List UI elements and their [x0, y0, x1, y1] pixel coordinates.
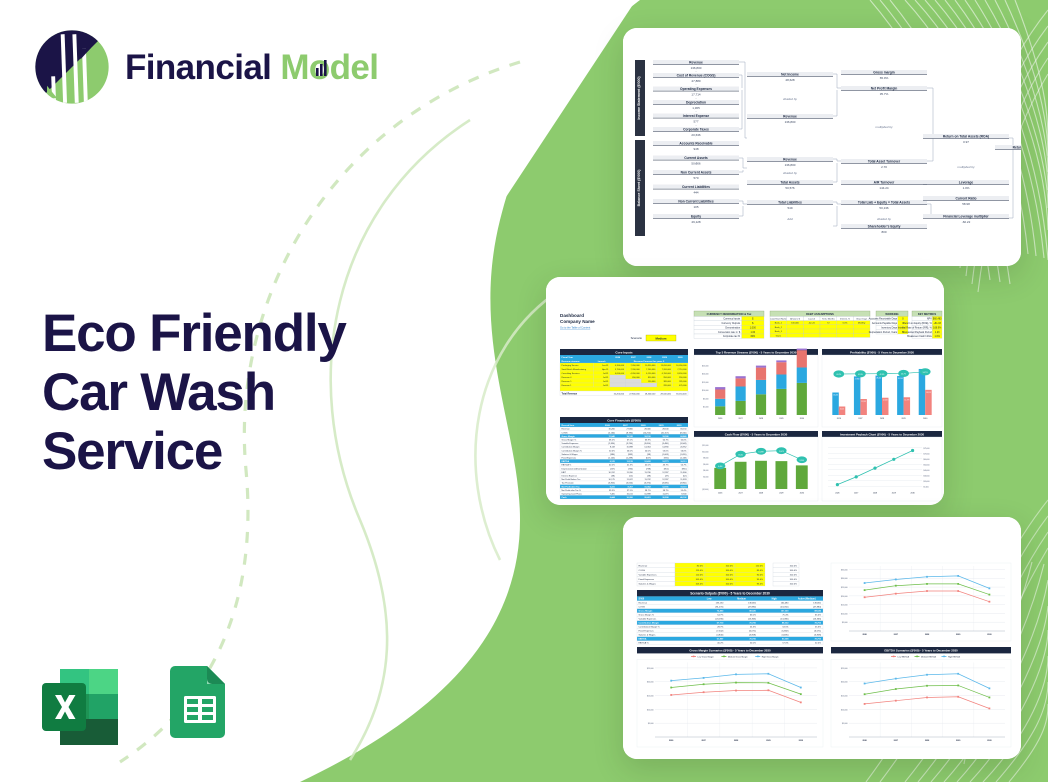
svg-text:2028: 2028	[880, 418, 884, 420]
svg-text:68.2%: 68.2%	[609, 440, 615, 442]
svg-text:Net Profit after Tax: Net Profit after Tax	[562, 485, 581, 488]
svg-text:KEY METRICS: KEY METRICS	[918, 312, 937, 316]
svg-text:Contribution Margin %: Contribution Margin %	[562, 449, 582, 452]
svg-text:Cost of Revenue (COGS): Cost of Revenue (COGS)	[677, 74, 716, 78]
svg-text:(738): (738)	[646, 468, 651, 470]
svg-text:Contribution Margin: Contribution Margin	[639, 622, 660, 625]
svg-text:Corporate Taxes: Corporate Taxes	[683, 128, 709, 132]
svg-text:$10,000: $10,000	[702, 451, 708, 453]
svg-text:43.7%: 43.7%	[663, 465, 669, 467]
svg-text:35.7%: 35.7%	[880, 92, 889, 96]
svg-text:1.0%: 1.0%	[934, 335, 940, 338]
svg-text:75,700: 75,700	[814, 623, 821, 625]
svg-text:28,100: 28,100	[662, 429, 669, 431]
svg-text:144.24: 144.24	[879, 186, 889, 190]
svg-text:95.0%: 95.0%	[757, 579, 763, 581]
svg-text:Current Ratio: Current Ratio	[955, 197, 976, 201]
svg-text:(3,690): (3,690)	[644, 443, 651, 445]
svg-text:11,833: 11,833	[680, 479, 687, 481]
svg-text:100.0%: 100.0%	[790, 575, 797, 577]
svg-text:16,200: 16,200	[626, 497, 633, 499]
svg-text:NPV: NPV	[927, 318, 932, 321]
svg-text:Corporate tax %: Corporate tax %	[723, 335, 741, 338]
svg-text:Total Liabilities: Total Liabilities	[778, 201, 802, 205]
svg-text:Variable Expenses: Variable Expenses	[639, 574, 658, 577]
svg-text:1,000: 1,000	[750, 326, 757, 329]
svg-text:8,300: 8,300	[681, 494, 687, 496]
svg-text:2030: 2030	[677, 425, 683, 427]
svg-text:75,700: 75,700	[749, 623, 756, 625]
svg-text:950,000: 950,000	[663, 377, 671, 379]
svg-text:Packaging Service: Packaging Service	[562, 364, 580, 367]
svg-text:Monthly: Monthly	[858, 322, 866, 325]
svg-text:24,840: 24,840	[680, 435, 687, 438]
svg-text:105.0%: 105.0%	[696, 584, 703, 586]
svg-text:Depreciation Period, Years: Depreciation Period, Years	[869, 331, 898, 334]
svg-text:570: 570	[693, 176, 698, 180]
svg-text:28,400,000: 28,400,000	[645, 393, 656, 395]
svg-text:CURRENCY DENOMINATION & Tax: CURRENCY DENOMINATION & Tax	[707, 312, 752, 316]
svg-text:divided by: divided by	[783, 171, 797, 175]
svg-text:Accounts Receivable: Accounts Receivable	[679, 142, 712, 146]
svg-text:13,050,000: 13,050,000	[661, 365, 672, 367]
svg-text:(3,944): (3,944)	[680, 443, 687, 445]
svg-text:136,800: 136,800	[748, 603, 757, 605]
svg-text:10,898: 10,898	[644, 494, 651, 496]
svg-text:Core Financials ($'000): Core Financials ($'000)	[607, 418, 641, 422]
mini-bar-chart-icon	[315, 59, 329, 77]
svg-text:(627): (627)	[646, 458, 651, 460]
left-content-column: Financial Model Eco Friendly Car Wash Se…	[0, 0, 450, 782]
svg-text:100.0%: 100.0%	[726, 579, 733, 581]
svg-text:Leverage: Leverage	[959, 181, 974, 185]
svg-text:Revenue 1: Revenue 1	[562, 385, 573, 387]
svg-text:6,125: 6,125	[840, 408, 844, 410]
svg-text:2030: 2030	[800, 418, 804, 420]
svg-text:Variable Expenses: Variable Expenses	[562, 442, 579, 445]
svg-text:Accounts Receivable Days: Accounts Receivable Days	[869, 318, 898, 321]
svg-text:(47,880): (47,880)	[813, 607, 821, 609]
svg-text:Current Liabilities: Current Liabilities	[682, 185, 710, 189]
svg-text:Gross Margin %: Gross Margin %	[639, 615, 654, 617]
svg-text:(3,294): (3,294)	[626, 443, 633, 445]
svg-text:Jan-31: Jan-31	[602, 365, 609, 367]
svg-text:Equity: Equity	[691, 215, 701, 219]
svg-text:12,432: 12,432	[883, 400, 888, 402]
screenshot-card-dashboard[interactable]: DashboardCompany NameGo to the Table of …	[546, 277, 944, 505]
svg-text:650,000: 650,000	[632, 377, 640, 379]
svg-text:27,800: 27,800	[626, 429, 633, 431]
svg-text:$15,000: $15,000	[647, 695, 654, 697]
svg-text:136,800: 136,800	[813, 603, 822, 605]
svg-text:2027: 2027	[738, 418, 742, 420]
svg-text:$20,000: $20,000	[841, 596, 848, 598]
svg-text:$1,000: $1,000	[924, 486, 929, 488]
svg-text:6,150,000: 6,150,000	[662, 373, 672, 375]
svg-text:11,040: 11,040	[609, 435, 616, 438]
svg-text:10,898: 10,898	[758, 451, 763, 453]
svg-text:12,287: 12,287	[662, 479, 669, 481]
svg-text:Interest Expense: Interest Expense	[683, 114, 710, 118]
svg-text:$5,000: $5,000	[842, 723, 848, 725]
svg-text:33,150: 33,150	[680, 429, 687, 431]
svg-text:Bank_2: Bank_2	[775, 327, 783, 329]
svg-text:Company Name: Company Name	[560, 319, 595, 324]
svg-text:$30,000: $30,000	[841, 578, 848, 580]
svg-text:11,200: 11,200	[627, 472, 634, 474]
page-title-line-3: Service	[42, 422, 442, 481]
svg-text:133,130: 133,130	[716, 603, 725, 605]
svg-text:Medium: Medium	[737, 599, 746, 601]
svg-text:$5,000: $5,000	[648, 723, 654, 725]
svg-text:2.70: 2.70	[881, 165, 887, 169]
svg-text:$2,000: $2,000	[703, 476, 708, 478]
svg-text:7,710,000: 7,710,000	[677, 369, 687, 371]
svg-text:136,800: 136,800	[785, 120, 796, 124]
svg-text:$5,000: $5,000	[703, 398, 709, 400]
svg-text:Salaries & Wages: Salaries & Wages	[639, 583, 657, 586]
svg-text:Gross Margin: Gross Margin	[562, 435, 576, 438]
svg-text:(2,830): (2,830)	[608, 443, 615, 445]
svg-text:3,750,000: 3,750,000	[615, 369, 625, 371]
svg-text:120.0%: 120.0%	[756, 565, 763, 567]
svg-text:(81,270): (81,270)	[715, 607, 723, 609]
svg-text:Revenue: Revenue	[689, 61, 703, 65]
svg-text:Scenario Outputs ($'000) - 5 Y: Scenario Outputs ($'000) - 5 Years to De…	[690, 592, 770, 596]
svg-text:15,898: 15,898	[626, 447, 633, 449]
svg-text:28,400: 28,400	[644, 429, 651, 431]
svg-text:Return on Total Assets (ROA): Return on Total Assets (ROA)	[943, 135, 989, 139]
svg-text:105.0%: 105.0%	[696, 579, 703, 581]
svg-text:2030: 2030	[910, 493, 914, 495]
svg-text:52.0%: 52.0%	[750, 643, 756, 645]
svg-text:52.0%: 52.0%	[815, 643, 821, 645]
svg-text:-60.22: -60.22	[962, 220, 971, 224]
svg-text:Revenue: Revenue	[783, 158, 797, 162]
svg-text:(5,160): (5,160)	[608, 432, 615, 434]
svg-text:(3,685): (3,685)	[662, 483, 669, 485]
svg-text:Grace Days: Grace Days	[856, 318, 867, 321]
svg-text:Currency Inputs: Currency Inputs	[723, 318, 741, 321]
svg-text:27,800,000: 27,800,000	[629, 393, 640, 395]
poster-canvas: Financial Model Eco Friendly Car Wash Se…	[0, 0, 1048, 782]
svg-text:54.7%: 54.7%	[681, 465, 687, 467]
svg-text:$12,000: $12,000	[702, 445, 708, 447]
svg-text:COGS: COGS	[639, 607, 646, 609]
svg-text:49,128: 49,128	[691, 220, 701, 224]
svg-text:12,287: 12,287	[662, 472, 669, 474]
svg-text:(1,145): (1,145)	[608, 458, 615, 460]
svg-text:(851): (851)	[664, 468, 669, 470]
svg-text:18,113: 18,113	[926, 392, 931, 394]
screenshot-card-scenarios[interactable]: Revenue80.0%100.0%120.0%100.0%COGS115.0%…	[623, 517, 1021, 759]
svg-text:2029: 2029	[956, 740, 960, 742]
svg-text:19,119: 19,119	[680, 486, 687, 488]
svg-text:100.0%: 100.0%	[726, 584, 733, 586]
svg-text:Revenue: Revenue	[639, 565, 649, 567]
svg-text:2027: 2027	[738, 493, 742, 495]
svg-text:37.5%: 37.5%	[627, 490, 633, 492]
svg-text:$35,000: $35,000	[841, 569, 848, 571]
svg-text:Gross Margin Scenarios ($'000): Gross Margin Scenarios ($'000) - 5 Years…	[689, 649, 771, 653]
svg-text:100,000: 100,000	[791, 323, 799, 325]
svg-text:55.3%: 55.3%	[815, 627, 821, 629]
svg-text:6,444: 6,444	[718, 466, 722, 468]
svg-text:Non Current Assets: Non Current Assets	[681, 171, 712, 175]
svg-text:Total Assets: Total Assets	[780, 181, 799, 185]
svg-text:8,650,000: 8,650,000	[677, 373, 687, 375]
svg-text:105: 105	[693, 205, 698, 209]
svg-text:Current Assets: Current Assets	[684, 156, 708, 160]
svg-text:-: -	[695, 96, 696, 100]
svg-text:Fiscal Year: Fiscal Year	[562, 357, 574, 359]
svg-text:53.0%: 53.0%	[663, 450, 669, 452]
svg-text:$75,000: $75,000	[924, 448, 930, 450]
svg-text:100.0%: 100.0%	[726, 570, 733, 572]
svg-text:33,150,000: 33,150,000	[676, 393, 687, 395]
svg-text:2027: 2027	[631, 357, 637, 359]
svg-text:2030: 2030	[678, 357, 684, 359]
svg-text:12,773: 12,773	[904, 399, 909, 401]
svg-text:285,000: 285,000	[663, 385, 671, 387]
svg-text:Internal Rate of Return (IRR),: Internal Rate of Return (IRR), %	[898, 326, 933, 329]
svg-text:$15,000: $15,000	[841, 695, 848, 697]
svg-text:20,636: 20,636	[691, 133, 701, 137]
svg-text:2030: 2030	[923, 418, 927, 420]
svg-text:57.0%: 57.0%	[782, 643, 788, 645]
svg-text:950,000: 950,000	[679, 377, 687, 379]
svg-text:48,192: 48,192	[680, 496, 687, 499]
svg-text:54.7%: 54.7%	[923, 372, 928, 374]
dupont-driver-tree-image: Revenue136,800Cost of Revenue (COGS)47,8…	[623, 28, 1021, 266]
svg-text:56.0%: 56.0%	[627, 450, 633, 452]
svg-text:115.0%: 115.0%	[696, 570, 703, 572]
svg-text:42.0%: 42.0%	[645, 465, 651, 467]
svg-text:(3,485): (3,485)	[782, 635, 789, 637]
svg-text:2026: 2026	[862, 634, 866, 636]
svg-text:88,132: 88,132	[782, 623, 789, 625]
scenario-analysis-image: Revenue80.0%100.0%120.0%100.0%COGS115.0%…	[623, 517, 1021, 759]
svg-text:11,800: 11,800	[680, 472, 687, 474]
svg-text:40.2%: 40.2%	[609, 465, 615, 467]
svg-text:Add: Add	[786, 217, 793, 221]
svg-text:11,022: 11,022	[627, 479, 634, 481]
svg-text:16,050,000: 16,050,000	[676, 365, 687, 367]
svg-text:-: -	[695, 110, 696, 114]
svg-text:Total Asset Turnover: Total Asset Turnover	[868, 160, 901, 164]
svg-text:Discounted Payback Period: Discounted Payback Period	[902, 331, 932, 334]
svg-text:Inventory Days: Inventory Days	[881, 326, 898, 329]
svg-text:Active (Medium): Active (Medium)	[798, 598, 816, 601]
svg-text:EBITDA %: EBITDA %	[639, 642, 649, 645]
svg-text:(52): (52)	[629, 476, 633, 478]
svg-text:2030: 2030	[799, 740, 803, 742]
svg-text:Depreciation & Amortization: Depreciation & Amortization	[562, 467, 587, 470]
svg-text:65.0%: 65.0%	[815, 615, 821, 617]
svg-text:High Gross Margin: High Gross Margin	[762, 656, 779, 658]
svg-text:$25,000: $25,000	[702, 365, 709, 367]
svg-text:Total Revenue: Total Revenue	[562, 392, 578, 395]
svg-text:2027: 2027	[894, 740, 898, 742]
brand-wordmark: Financial Model	[125, 50, 378, 85]
svg-text:Low: Low	[707, 599, 712, 601]
svg-text:100.0%: 100.0%	[790, 565, 797, 567]
svg-text:65.0%: 65.0%	[880, 76, 889, 80]
page-title-line-1: Eco Friendly	[42, 304, 442, 363]
svg-text:11,515: 11,515	[861, 401, 866, 403]
svg-text:2027: 2027	[894, 634, 898, 636]
svg-text:100.0%: 100.0%	[790, 570, 797, 572]
svg-text:Loan/Grant Name: Loan/Grant Name	[770, 318, 787, 321]
svg-text:(52): (52)	[683, 476, 687, 478]
svg-text:-: -	[695, 83, 696, 87]
svg-text:Fixed Expenses: Fixed Expenses	[562, 458, 577, 460]
svg-text:EBITDA %: EBITDA %	[562, 464, 572, 467]
svg-text:(38): (38)	[647, 476, 651, 478]
dashboard-image: DashboardCompany NameGo to the Table of …	[546, 277, 944, 505]
screenshot-card-dupont-model[interactable]: Revenue136,800Cost of Revenue (COGS)47,8…	[623, 28, 1021, 266]
svg-text:Launch: Launch	[598, 361, 606, 363]
svg-text:53.5%: 53.5%	[782, 627, 788, 629]
svg-text:$4,000: $4,000	[703, 470, 708, 472]
svg-text:Jul-31: Jul-31	[603, 377, 609, 379]
svg-text:28,400: 28,400	[876, 378, 881, 380]
svg-text:EBITDA: EBITDA	[639, 638, 647, 641]
svg-text:Total Liab + Equity = Total As: Total Liab + Equity = Total Assets	[858, 201, 910, 205]
svg-text:6,150,000: 6,150,000	[646, 373, 656, 375]
svg-text:Small Batch Manufacturing: Small Batch Manufacturing	[562, 368, 586, 371]
svg-text:$15,000: $15,000	[841, 605, 848, 607]
svg-text:Amount, $: Amount, $	[790, 318, 800, 321]
svg-text:Depreciation: Depreciation	[686, 101, 706, 105]
svg-text:+61.03: +61.03	[934, 322, 942, 325]
svg-text:$25,000: $25,000	[647, 668, 654, 670]
svg-text:54.7%: 54.7%	[717, 615, 723, 617]
svg-text:2029: 2029	[779, 493, 783, 495]
svg-text:($2,000): ($2,000)	[702, 489, 709, 491]
svg-text:57,710: 57,710	[717, 623, 724, 625]
svg-text:Low EBITDA: Low EBITDA	[898, 655, 910, 658]
svg-text:EBITDA: EBITDA	[562, 460, 570, 463]
svg-text:11,075: 11,075	[779, 451, 784, 453]
svg-text:425,000: 425,000	[679, 385, 687, 387]
svg-text:168.9%: 168.9%	[933, 326, 942, 329]
svg-text:7,200,000: 7,200,000	[631, 369, 641, 371]
svg-text:6,125: 6,125	[610, 461, 616, 463]
svg-text:Revenue 5: Revenue 5	[562, 381, 573, 383]
svg-text:38.7%: 38.7%	[663, 490, 669, 492]
svg-text:(23,190): (23,190)	[715, 619, 723, 621]
svg-text:16,200: 16,200	[833, 395, 838, 397]
svg-text:67.5%: 67.5%	[627, 440, 633, 442]
svg-text:11,075: 11,075	[662, 494, 669, 496]
svg-text:Accounts Payable Days: Accounts Payable Days	[872, 322, 898, 325]
svg-text:55.4%: 55.4%	[681, 490, 687, 492]
svg-text:Apr-31: Apr-31	[602, 368, 609, 371]
svg-text:50,136: 50,136	[879, 206, 889, 210]
svg-text:$15,000: $15,000	[702, 382, 709, 384]
svg-text:Jul-31: Jul-31	[603, 373, 609, 375]
svg-text:948: 948	[693, 147, 698, 151]
svg-text:2028: 2028	[759, 493, 763, 495]
svg-text:(6,071): (6,071)	[814, 631, 821, 633]
svg-text:High: High	[772, 599, 778, 601]
svg-text:(980): (980)	[610, 454, 615, 456]
svg-text:2026: 2026	[718, 493, 722, 495]
svg-text:55.3%: 55.3%	[750, 627, 756, 629]
svg-text:Top 5 Revenue Streams ($'000): Top 5 Revenue Streams ($'000) - 5 Years …	[716, 350, 797, 354]
svg-text:72,460: 72,460	[717, 610, 724, 613]
page-title: Eco Friendly Car Wash Service	[42, 304, 442, 482]
svg-text:2028: 2028	[873, 493, 877, 495]
svg-text:65.0%: 65.0%	[750, 615, 756, 617]
svg-text:Net Profit after Tax %: Net Profit after Tax %	[562, 489, 581, 492]
svg-text:Operating Cash Flows: Operating Cash Flows	[562, 493, 582, 496]
svg-text:850,000: 850,000	[648, 377, 656, 379]
svg-text:$10,000: $10,000	[702, 390, 709, 392]
svg-text:93,108: 93,108	[782, 639, 789, 641]
svg-text:(8,310): (8,310)	[680, 432, 687, 434]
svg-text:7,200,000: 7,200,000	[646, 369, 656, 371]
svg-text:Investment Payback Chart ($'00: Investment Payback Chart ($'000) - 5 Yea…	[840, 432, 925, 436]
svg-text:Currency Outputs: Currency Outputs	[721, 322, 741, 325]
svg-text:Revenue Forecast for years 5: Revenue Forecast for years 5	[634, 360, 665, 363]
svg-text:multiplied by: multiplied by	[875, 125, 893, 129]
file-format-icons	[36, 663, 242, 751]
svg-text:1.23: 1.23	[935, 331, 940, 334]
svg-text:(7,502): (7,502)	[717, 631, 724, 633]
svg-text:8,300: 8,300	[800, 460, 804, 462]
svg-text:6.0%: 6.0%	[843, 323, 848, 325]
svg-text:$5,000: $5,000	[842, 622, 848, 624]
svg-text:$'000: $'000	[639, 599, 645, 601]
svg-text:-: -	[695, 69, 696, 73]
svg-text:18,113: 18,113	[680, 461, 687, 463]
svg-text:Variable Expenses: Variable Expenses	[639, 619, 657, 621]
svg-text:Medium Gross Margin: Medium Gross Margin	[728, 656, 748, 658]
svg-text:10,175: 10,175	[609, 479, 616, 481]
svg-text:50.0%: 50.0%	[609, 450, 615, 452]
svg-text:Jul-31: Jul-31	[603, 381, 609, 383]
svg-text:$6,000: $6,000	[703, 464, 708, 466]
svg-text:Interest Expense: Interest Expense	[562, 475, 578, 478]
svg-text:COGS: COGS	[562, 432, 569, 434]
svg-text:28,100,000: 28,100,000	[660, 393, 671, 395]
svg-text:800: 800	[881, 230, 886, 234]
svg-text:Core Inputs: Core Inputs	[615, 350, 632, 354]
svg-text:20,952: 20,952	[680, 447, 687, 449]
svg-text:(257): (257)	[610, 468, 615, 470]
svg-text:Salaries & Wages: Salaries & Wages	[639, 635, 656, 637]
google-sheets-icon	[154, 663, 242, 751]
svg-text:(1,118): (1,118)	[680, 458, 687, 460]
brand-name-model-text: Model	[280, 48, 378, 87]
svg-text:(5,682): (5,682)	[782, 631, 789, 633]
svg-text:164,480: 164,480	[781, 603, 790, 605]
svg-text:85.0%: 85.0%	[757, 570, 763, 572]
svg-text:2026: 2026	[718, 418, 722, 420]
svg-text:EBITDA Scenarios ($'000) - 5 Y: EBITDA Scenarios ($'000) - 5 Years to De…	[884, 649, 958, 653]
svg-text:2030: 2030	[987, 634, 991, 636]
svg-text:1.0%: 1.0%	[963, 186, 970, 190]
svg-text:12,701: 12,701	[662, 486, 669, 488]
svg-text:EBIT: EBIT	[562, 472, 567, 474]
svg-text:8,118: 8,118	[610, 447, 616, 449]
svg-text:Medium: Medium	[656, 336, 667, 340]
svg-text:(3,855): (3,855)	[608, 483, 615, 485]
svg-text:$10,000: $10,000	[841, 613, 848, 615]
svg-text:14,064: 14,064	[644, 447, 651, 449]
